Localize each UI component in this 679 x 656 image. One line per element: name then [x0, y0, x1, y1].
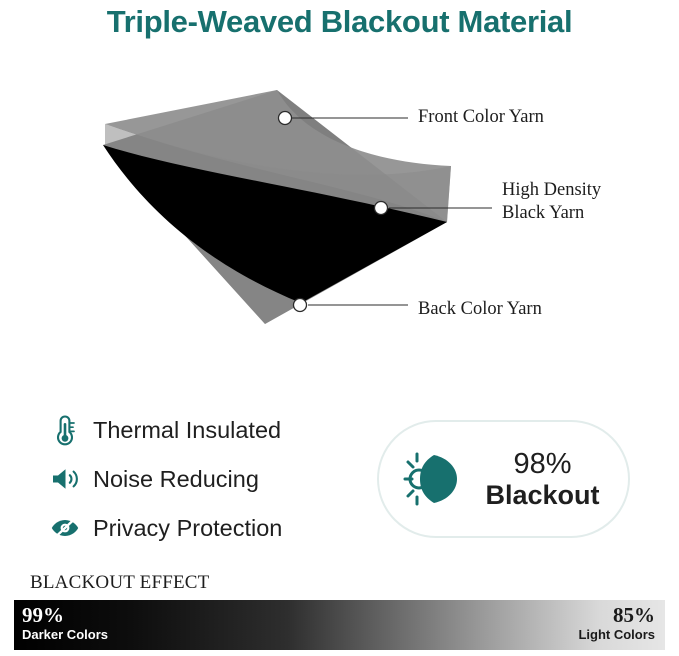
feature-label: Privacy Protection — [93, 515, 282, 542]
blackout-effect-left: 99% Darker Colors — [14, 604, 202, 642]
feature-thermal-insulated: Thermal Insulated — [50, 408, 360, 452]
blackout-effect-title: BLACKOUT EFFECT — [30, 572, 209, 594]
left-percent: 99% — [22, 604, 202, 628]
left-caption: Darker Colors — [22, 628, 202, 643]
feature-label: Noise Reducing — [93, 466, 259, 493]
badge-text: 98% Blackout — [471, 448, 614, 511]
feature-privacy-protection: Privacy Protection — [50, 506, 360, 550]
label-front-color-yarn: Front Color Yarn — [418, 106, 544, 129]
blackout-effect-right: 85% Light Colors — [455, 604, 663, 642]
product-infographic: Triple-Weaved Blackout Material Front — [0, 0, 679, 656]
sun-blocked-icon — [401, 448, 463, 510]
badge-label: Blackout — [485, 480, 599, 510]
blackout-badge: 98% Blackout — [377, 420, 630, 538]
thermometer-icon — [50, 414, 80, 446]
right-caption: Light Colors — [455, 628, 655, 643]
feature-list: Thermal Insulated Noise Reducing — [50, 408, 360, 555]
speaker-icon — [50, 463, 80, 495]
fabric-layers-diagram: Front Color Yarn High Density Black Yarn… — [0, 62, 679, 352]
right-percent: 85% — [455, 604, 655, 628]
label-back-color-yarn: Back Color Yarn — [418, 298, 542, 321]
page-title: Triple-Weaved Blackout Material — [0, 4, 679, 40]
feature-noise-reducing: Noise Reducing — [50, 457, 360, 501]
feature-label: Thermal Insulated — [93, 417, 281, 444]
eye-off-icon — [50, 512, 80, 544]
label-high-density-black-yarn: High Density Black Yarn — [502, 179, 601, 224]
badge-percent: 98% — [513, 448, 571, 480]
